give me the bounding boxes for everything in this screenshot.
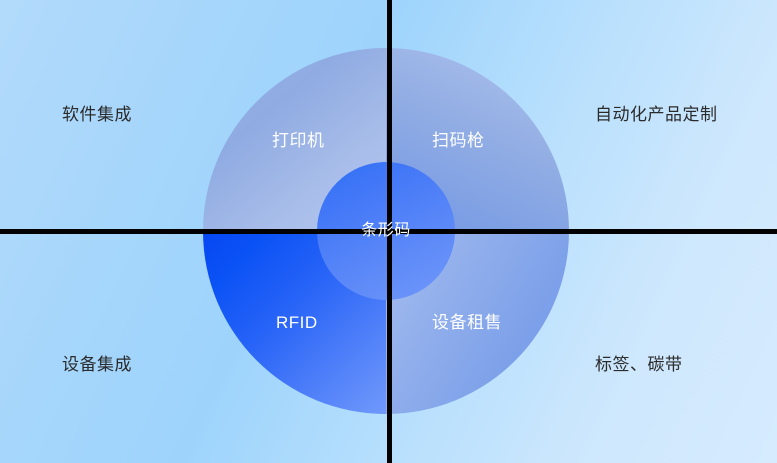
corner-label-labels-ribbons: 标签、碳带: [595, 356, 683, 373]
wheel-label-printer: 打印机: [272, 132, 325, 149]
wheel-label-scanner: 扫码枪: [432, 132, 485, 149]
center-hub-label-barcode: 条形码: [317, 162, 455, 300]
corner-label-software-integration: 软件集成: [62, 106, 132, 123]
wheel-label-rfid: RFID: [276, 314, 318, 331]
wheel-label-equipment-rental: 设备租售: [432, 314, 502, 331]
corner-label-equipment-integration: 设备集成: [62, 356, 132, 373]
corner-label-automation-customization: 自动化产品定制: [595, 106, 718, 123]
diagram-canvas: 打印机 扫码枪 RFID 设备租售 条形码 软件集成 自动化产品定制 设备集成 …: [0, 0, 777, 463]
